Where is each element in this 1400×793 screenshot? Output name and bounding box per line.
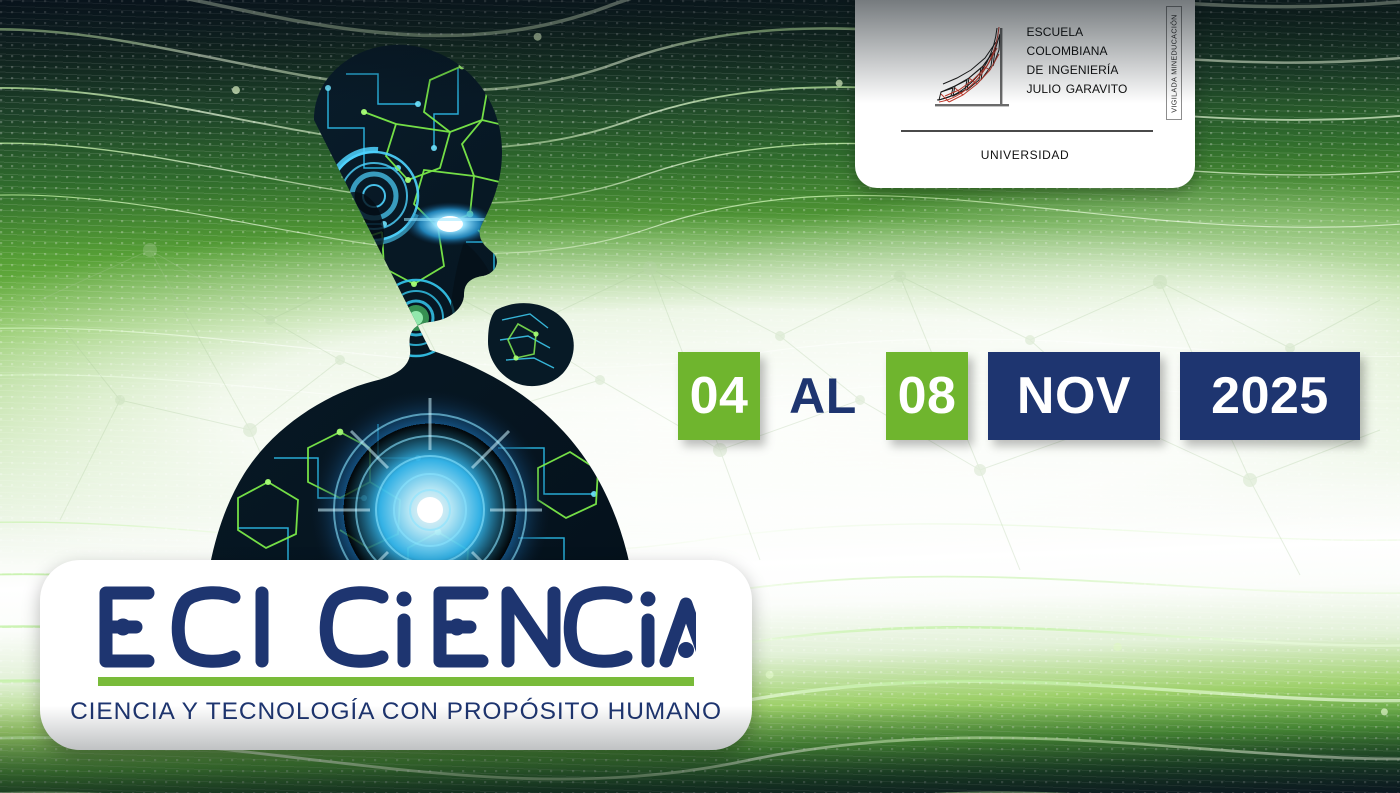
eci-ciencia-wordmark [96,584,696,670]
date-day-start: 04 [678,352,760,440]
date-connector: AL [780,352,866,440]
university-name-line-2: Colombiana [1027,41,1128,60]
eci-green-underline [98,677,694,686]
university-divider [901,130,1153,132]
ai-humanoid-thinker [78,28,698,628]
university-name-line-1: Escuela [1027,22,1128,41]
university-logo-row: Escuela Colombiana de Ingeniería Julio G… [923,22,1128,118]
date-day-end: 08 [886,352,968,440]
university-subtitle: UNIVERSIDAD [981,144,1070,164]
vigilada-mineducacion-badge: VIGILADA MINEDUCACIÓN [1166,6,1182,120]
date-year: 2025 [1180,352,1360,440]
event-date-strip: 04 AL 08 NOV 2025 [678,352,1360,440]
date-month: NOV [988,352,1160,440]
university-name-line-4: Julio Garavito [1027,79,1128,98]
university-name: Escuela Colombiana de Ingeniería Julio G… [1027,22,1128,99]
university-logo-card: Escuela Colombiana de Ingeniería Julio G… [855,0,1195,188]
escuela-colombiana-ingenieria-mark-icon [929,22,1017,118]
eci-ciencia-logo-card: CIENCIA Y TECNOLOGÍA CON PROPÓSITO HUMAN… [40,560,752,750]
vigilada-mineducacion-text: VIGILADA MINEDUCACIÓN [1170,14,1179,112]
university-name-line-3: de Ingeniería [1027,60,1128,79]
eci-tagline: CIENCIA Y TECNOLOGÍA CON PROPÓSITO HUMAN… [70,698,722,726]
poster: Escuela Colombiana de Ingeniería Julio G… [0,0,1400,793]
